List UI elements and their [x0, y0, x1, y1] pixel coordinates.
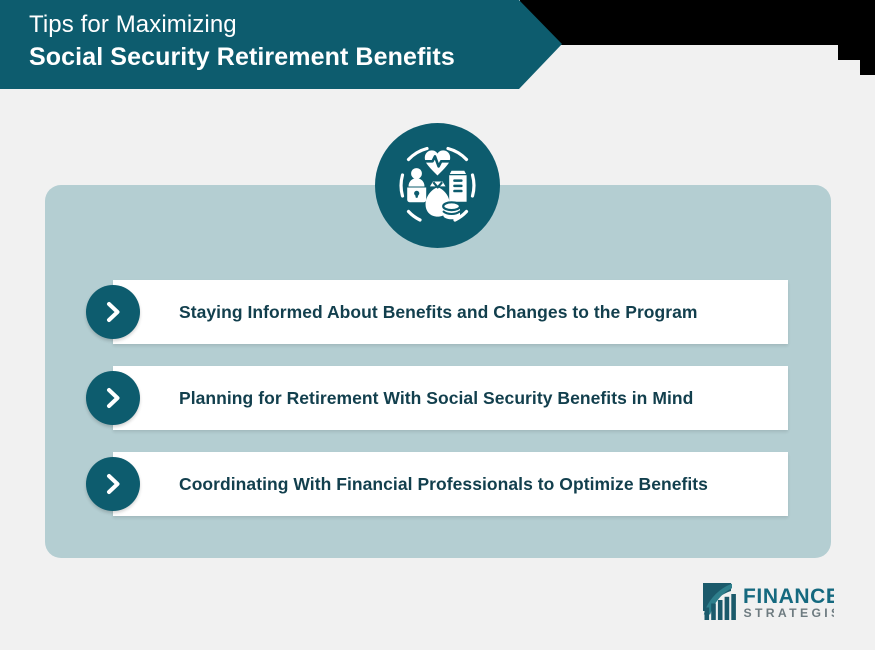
finance-strategists-logo[interactable]: FINANCE STRATEGISTS [701, 578, 834, 624]
logo-word-strategists: STRATEGISTS [744, 606, 835, 620]
logo-arch-mark [703, 583, 736, 620]
list-item-label: Planning for Retirement With Social Secu… [179, 388, 693, 409]
list-item[interactable]: Planning for Retirement With Social Secu… [113, 366, 788, 430]
list-item-label: Coordinating With Financial Professional… [179, 474, 708, 495]
chevron-right-icon[interactable] [86, 371, 140, 425]
tips-list: Staying Informed About Benefits and Chan… [0, 0, 875, 650]
chevron-right-icon[interactable] [86, 457, 140, 511]
list-item-label: Staying Informed About Benefits and Chan… [179, 302, 698, 323]
list-item[interactable]: Staying Informed About Benefits and Chan… [113, 280, 788, 344]
infographic-canvas: Tips for Maximizing Social Security Reti… [0, 0, 875, 650]
logo-word-finance: FINANCE [743, 585, 834, 608]
chevron-right-icon[interactable] [86, 285, 140, 339]
list-item[interactable]: Coordinating With Financial Professional… [113, 452, 788, 516]
